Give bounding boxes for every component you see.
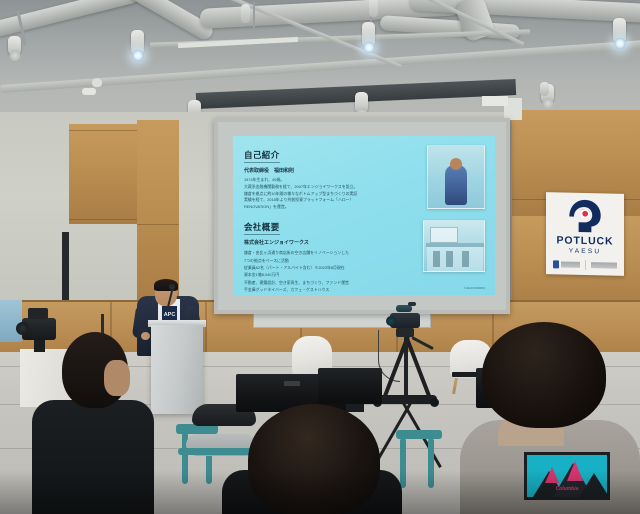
audience-left-neck [104, 360, 130, 396]
tripod-head [396, 328, 414, 337]
industrial-ceiling [0, 0, 640, 118]
wall-trim [482, 96, 508, 106]
audience-left-body [32, 400, 154, 514]
wood-wall-panel-left [69, 124, 137, 224]
video-camera-top-handle [396, 305, 412, 312]
potluck-yaesu-sign: POTLUCK YAESU [546, 192, 624, 276]
ceiling-pendant-fixture [241, 4, 250, 23]
columbia-brand-text: Columbia [527, 486, 607, 492]
ceiling-spotlight [8, 36, 21, 56]
ceiling-spotlight [613, 18, 626, 44]
sign-partner-logos [553, 258, 617, 270]
ceiling-pendant-fixture [369, 0, 378, 17]
production-monitor-center [318, 368, 382, 404]
slide-bullet-4: 不動産、建築設計、空き家再生、まちづくり、ファンド運営 [244, 279, 396, 286]
monitor-notch [284, 381, 300, 386]
monitor-stand [346, 404, 364, 412]
presenter-hand-left [141, 332, 150, 340]
slide-heading-company: 会社概要 [244, 221, 280, 235]
potluck-p-logo-icon [568, 199, 602, 234]
columbia-tshirt-graphic: Columbia [524, 452, 610, 500]
slide-heading-self-intro: 自己紹介 [244, 149, 280, 163]
sign-brand-name: POTLUCK [546, 234, 624, 248]
slide-bullet-3: 資本金1億8,040万円 [244, 271, 396, 278]
security-camera [92, 78, 102, 87]
presentation-slide: 自己紹介 代表取締役 福田和則 1974年生まれ、49歳。 大蔵系金融機関勤務を… [233, 136, 495, 295]
slide-bullet-1: 鎌倉・由比ヶ浜通り商店街の空き店舗をリノベーションした 7つの拠点をベースに活動 [244, 249, 396, 264]
dolly-wheel [430, 398, 439, 407]
security-camera [82, 88, 96, 95]
camera-lens-icon [16, 322, 29, 335]
ceiling-spotlight [362, 22, 375, 48]
audience-center-head [248, 404, 380, 514]
ceiling-spotlight [355, 92, 368, 114]
tripod-dolly-base [375, 395, 437, 404]
slide-bullet-2: 従業員82名（パート・アルバイト含む）※2023年8月現在 [244, 264, 396, 271]
teal-chair-leg [400, 438, 406, 488]
camera-stand [34, 338, 45, 352]
slide-footer: © ENJOYWORKS [464, 287, 485, 290]
slide-body-self-intro: 1974年生まれ、49歳。 大蔵系金融機関勤務を経て、2007年エンジョイワーク… [244, 177, 384, 211]
slide-portrait-photo [427, 145, 485, 209]
partner-logo-right [591, 260, 618, 270]
ceiling-pendant-fixture [540, 82, 549, 96]
audience-right-head [482, 322, 606, 428]
ceiling-pipe [253, 2, 255, 28]
sign-location-name: YAESU [546, 247, 624, 256]
slide-bullet-5: 手金庫グッドネイバーズ、カフェ・ゲストハウス シェアオフィスなどを運営 [244, 286, 396, 295]
presentation-room-photo: 自己紹介 代表取締役 福田和則 1974年生まれ、49歳。 大蔵系金融機関勤務を… [0, 0, 640, 514]
slide-building-photo [423, 220, 485, 272]
video-camera-microphone-icon [408, 302, 416, 306]
ceiling-spotlight [131, 30, 144, 56]
left-monitor [0, 300, 22, 342]
tripod-column [404, 333, 408, 399]
camera-viewfinder [28, 308, 48, 319]
teal-chair-leg [428, 438, 434, 488]
lectern [151, 325, 203, 414]
video-camera-lens-icon [386, 316, 396, 326]
partner-logo-left [553, 259, 580, 269]
microphone-head-icon [169, 284, 175, 290]
